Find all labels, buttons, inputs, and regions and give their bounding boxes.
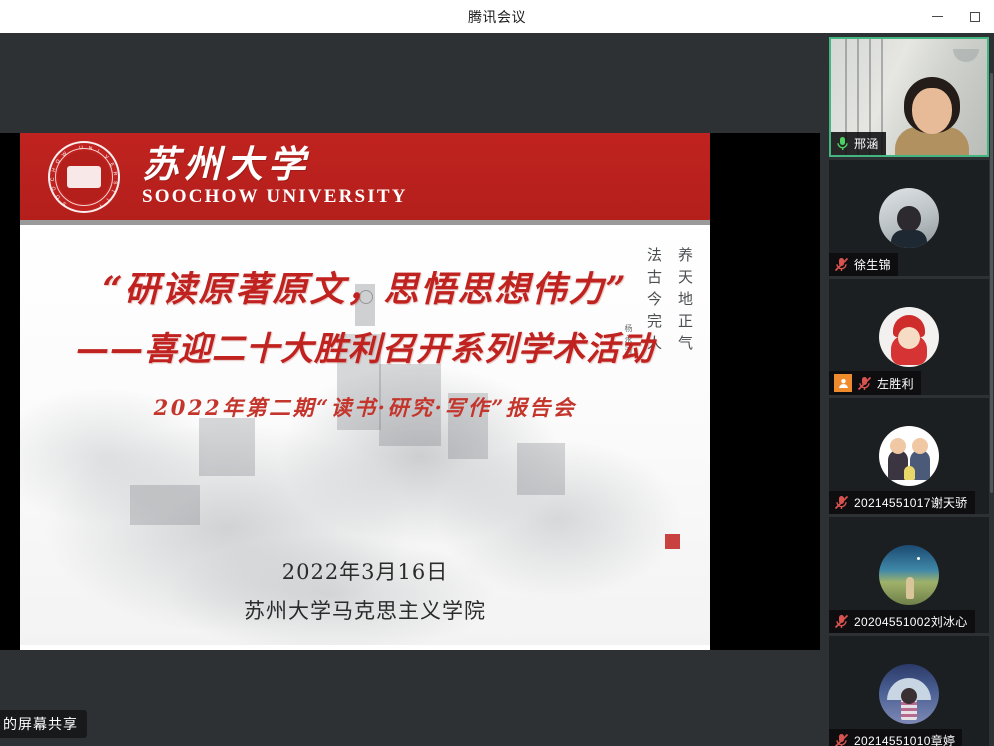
participant-tile[interactable]: 徐生锦	[829, 160, 989, 276]
mic-muted-icon	[834, 733, 849, 746]
participant-name: 20204551002刘冰心	[854, 613, 968, 630]
participant-tile[interactable]: 左胜利	[829, 279, 989, 395]
slide-title-line-1: “研读原著原文，思悟思想伟力”	[20, 261, 710, 312]
mic-on-icon	[836, 136, 849, 151]
screen-share-tooltip: 的屏幕共享	[0, 710, 87, 738]
host-person-icon	[838, 378, 849, 389]
window-controls	[918, 0, 994, 33]
lamp-shape	[953, 49, 979, 62]
university-seal-icon: SOOCHOW UNIVERSITY	[48, 141, 120, 213]
participant-rail[interactable]: 邢涵 徐生锦	[824, 33, 994, 746]
maximize-icon	[970, 12, 980, 22]
presentation-slide: SOOCHOW UNIVERSITY 苏州大学 SOOCHOW UNIVERSI…	[20, 133, 710, 650]
maximize-button[interactable]	[956, 0, 994, 33]
shared-screen-stage[interactable]: SOOCHOW UNIVERSITY 苏州大学 SOOCHOW UNIVERSI…	[0, 33, 824, 746]
red-seal-stamp	[665, 534, 680, 549]
mic-muted-icon	[834, 495, 849, 510]
participant-tile[interactable]: 邢涵	[829, 37, 989, 157]
mic-muted-icon	[834, 257, 849, 272]
participant-name-bar: 徐生锦	[829, 253, 898, 276]
minimize-icon	[932, 16, 943, 17]
avatar	[879, 307, 939, 367]
tencent-meeting-window: 腾讯会议 SOOCHOW UNIVERSITY 苏州大学 SOO	[0, 0, 994, 746]
slide-footer-block: 2022年3月16日 苏州大学马克思主义学院	[20, 556, 710, 625]
rail-scrollbar[interactable]	[990, 73, 993, 493]
participant-tile[interactable]: 20214551017谢天骄	[829, 398, 989, 514]
shared-content-area[interactable]: SOOCHOW UNIVERSITY 苏州大学 SOOCHOW UNIVERSI…	[0, 133, 820, 650]
avatar	[879, 545, 939, 605]
participant-name: 20214551010章婷	[854, 732, 955, 746]
avatar-star	[917, 557, 920, 560]
slide-organization: 苏州大学马克思主义学院	[20, 595, 710, 625]
participant-name: 20214551017谢天骄	[854, 494, 968, 511]
avatar-face	[898, 327, 920, 349]
participant-name: 邢涵	[854, 135, 879, 152]
ink-building	[199, 418, 255, 476]
participant-name: 左胜利	[877, 375, 914, 392]
slide-title-block: “研读原著原文，思悟思想伟力” ——喜迎二十大胜利召开系列学术活动 2022年第…	[20, 261, 710, 422]
avatar-head	[890, 438, 906, 454]
participant-name-bar: 左胜利	[829, 371, 921, 395]
mic-muted-icon	[834, 614, 849, 629]
mic-muted-icon	[857, 376, 872, 391]
slide-body: 杨永清 法古今完人 养天地正气 “研读原著原文，思悟思想伟力” ——喜迎二十大胜…	[20, 225, 710, 645]
avatar	[879, 426, 939, 486]
slide-title-line-2: ——喜迎二十大胜利召开系列学术活动	[20, 322, 710, 370]
window-titlebar: 腾讯会议	[0, 0, 994, 33]
ink-building	[517, 443, 565, 495]
participant-tile[interactable]: 20204551002刘冰心	[829, 517, 989, 633]
avatar	[879, 188, 939, 248]
slide-date: 2022年3月16日	[20, 556, 710, 586]
avatar-head	[912, 438, 928, 454]
seal-ring-text: SOOCHOW UNIVERSITY	[50, 143, 118, 211]
person-face	[912, 88, 952, 134]
slide-subtitle: 2022年第二期“读书·研究·写作”报告会	[20, 392, 710, 422]
university-name-block: 苏州大学 SOOCHOW UNIVERSITY	[142, 145, 408, 209]
university-name-en: SOOCHOW UNIVERSITY	[142, 186, 408, 208]
slide-header-band: SOOCHOW UNIVERSITY 苏州大学 SOOCHOW UNIVERSI…	[20, 133, 710, 225]
participant-name-bar: 20214551010章婷	[829, 729, 962, 746]
person-silhouette	[895, 77, 969, 155]
ink-building	[130, 485, 200, 525]
minimize-button[interactable]	[918, 0, 956, 33]
avatar-head	[901, 688, 917, 704]
participant-name-bar: 20214551017谢天骄	[829, 491, 975, 514]
avatar-figure	[906, 577, 914, 599]
avatar	[879, 664, 939, 724]
university-name-cn: 苏州大学	[142, 145, 408, 184]
host-badge	[834, 374, 852, 392]
window-title: 腾讯会议	[468, 7, 526, 27]
participant-name-bar: 20204551002刘冰心	[829, 610, 975, 633]
participant-tile[interactable]: 20214551010章婷	[829, 636, 989, 746]
participant-name: 徐生锦	[854, 256, 891, 273]
avatar-figure	[904, 466, 915, 480]
participant-name-bar: 邢涵	[831, 132, 886, 155]
